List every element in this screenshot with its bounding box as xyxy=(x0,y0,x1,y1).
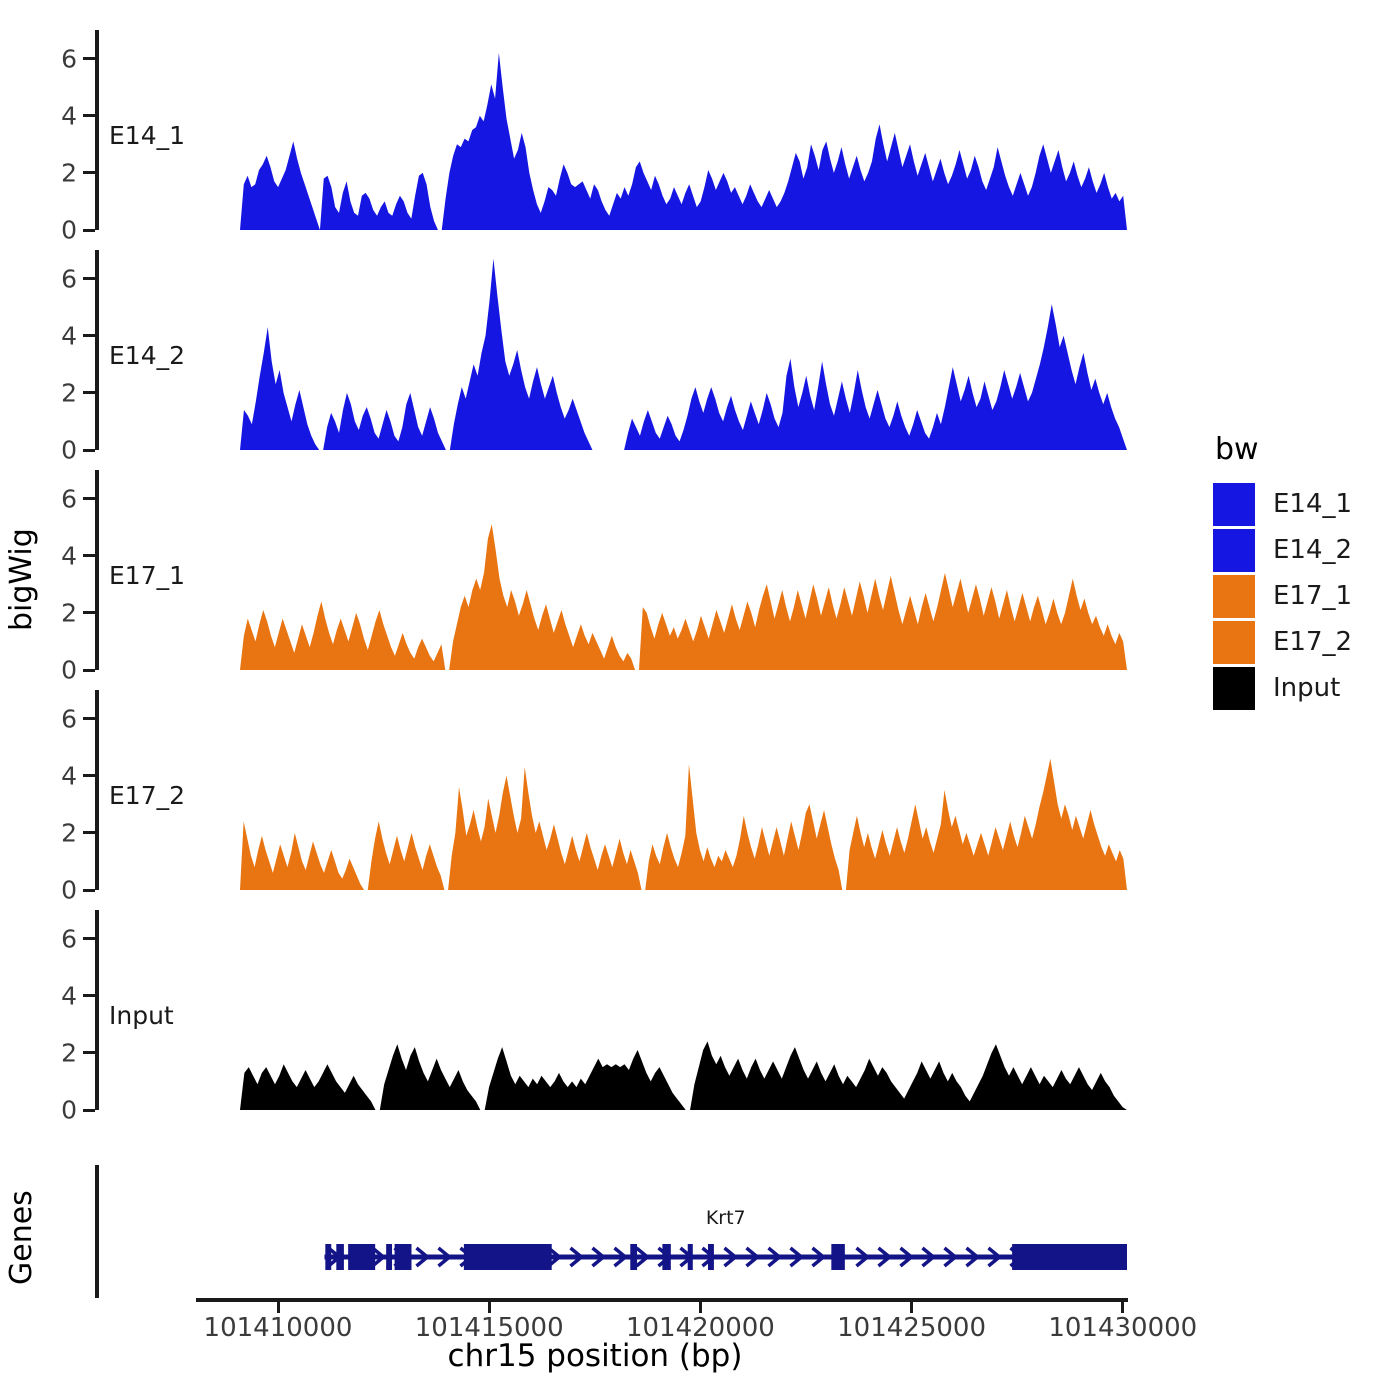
x-axis-title: chr15 position (bp) xyxy=(0,1338,1190,1374)
signal-panel-e17_2: 0246E17_2 xyxy=(95,690,1135,890)
signal-panel-e17_1: 0246E17_1 xyxy=(95,470,1135,670)
gene-exon xyxy=(708,1244,714,1270)
y-tick-label: 6 xyxy=(61,264,77,293)
x-tick xyxy=(699,1302,702,1313)
legend-item-e17_1[interactable]: E17_1 xyxy=(1213,573,1352,619)
signal-area xyxy=(240,259,592,450)
y-tick: 4 xyxy=(83,774,95,777)
y-tick: 4 xyxy=(83,114,95,117)
signal-area xyxy=(240,759,1127,890)
y-tick: 6 xyxy=(83,277,95,280)
legend-item-e17_2[interactable]: E17_2 xyxy=(1213,619,1352,665)
y-tick-label: 6 xyxy=(61,44,77,73)
legend-items: E14_1E14_2E17_1E17_2Input xyxy=(1213,481,1352,711)
y-tick: 2 xyxy=(83,611,95,614)
y-tick: 2 xyxy=(83,391,95,394)
y-tick: 2 xyxy=(83,831,95,834)
gene-exon xyxy=(348,1244,375,1270)
legend-item-e14_1[interactable]: E14_1 xyxy=(1213,481,1352,527)
y-tick-label: 4 xyxy=(61,541,77,570)
y-tick: 4 xyxy=(83,994,95,997)
gene-exon xyxy=(1012,1244,1127,1270)
y-axis-title-bigwig-wrap: bigWig xyxy=(4,470,56,690)
y-tick-label: 0 xyxy=(61,876,77,905)
signal-track-e17_1 xyxy=(99,470,1135,670)
y-tick-label: 6 xyxy=(61,924,77,953)
y-tick: 2 xyxy=(83,171,95,174)
genome-browser-figure: bigWig Genes 0246E14_10246E14_20246E17_1… xyxy=(0,0,1400,1400)
legend-swatch xyxy=(1213,667,1255,710)
y-tick-label: 0 xyxy=(61,216,77,245)
signal-area xyxy=(240,1041,1127,1110)
signal-track-input xyxy=(99,910,1135,1110)
gene-name-label: Krt7 xyxy=(666,1207,786,1229)
plot-area-e14_1 xyxy=(99,30,1135,230)
legend-label: E14_2 xyxy=(1273,535,1352,565)
y-tick-label: 0 xyxy=(61,1096,77,1125)
legend-swatch xyxy=(1213,529,1255,572)
signal-panel-e14_2: 0246E14_2 xyxy=(95,250,1135,450)
gene-exon xyxy=(662,1244,670,1270)
legend-label: E17_2 xyxy=(1273,627,1352,657)
y-tick: 6 xyxy=(83,57,95,60)
signal-track-e17_2 xyxy=(99,690,1135,890)
y-tick: 0 xyxy=(83,889,95,892)
plot-area-input xyxy=(99,910,1135,1110)
y-tick: 0 xyxy=(83,1109,95,1112)
y-tick-label: 0 xyxy=(61,656,77,685)
legend-item-e14_2[interactable]: E14_2 xyxy=(1213,527,1352,573)
gene-exon xyxy=(630,1244,637,1270)
x-tick xyxy=(277,1302,280,1313)
y-axis-title-bigwig: bigWig xyxy=(4,470,39,690)
y-tick: 0 xyxy=(83,449,95,452)
y-tick-label: 0 xyxy=(61,436,77,465)
y-tick-label: 4 xyxy=(61,761,77,790)
y-tick-label: 2 xyxy=(61,378,77,407)
gene-model-svg xyxy=(99,1165,1135,1298)
y-tick-label: 6 xyxy=(61,484,77,513)
signal-track-e14_2 xyxy=(99,250,1135,450)
genes-plot-area xyxy=(99,1165,1135,1298)
signal-panel-input: 0246Input xyxy=(95,910,1135,1110)
plot-area-e17_2 xyxy=(99,690,1135,890)
y-tick-label: 4 xyxy=(61,981,77,1010)
legend-swatch xyxy=(1213,483,1255,526)
gene-exon xyxy=(325,1244,331,1270)
legend-item-input[interactable]: Input xyxy=(1213,665,1352,711)
y-tick: 0 xyxy=(83,669,95,672)
legend-title: bw xyxy=(1215,432,1352,467)
legend-swatch xyxy=(1213,575,1255,618)
y-tick: 4 xyxy=(83,334,95,337)
legend-label: Input xyxy=(1273,673,1340,703)
legend-swatch xyxy=(1213,621,1255,664)
y-tick: 0 xyxy=(83,229,95,232)
x-axis-line xyxy=(196,1298,1128,1302)
y-tick-label: 2 xyxy=(61,818,77,847)
gene-exon xyxy=(688,1244,693,1270)
x-tick xyxy=(488,1302,491,1313)
signal-area xyxy=(240,524,1127,670)
signal-track-e14_1 xyxy=(99,30,1135,230)
y-tick: 4 xyxy=(83,554,95,557)
y-axis-title-genes: Genes xyxy=(4,1175,39,1300)
plot-area-e14_2 xyxy=(99,250,1135,450)
x-tick xyxy=(1121,1302,1124,1313)
y-tick-label: 6 xyxy=(61,704,77,733)
signal-area xyxy=(240,53,1127,230)
plot-area-e17_1 xyxy=(99,470,1135,670)
legend-label: E17_1 xyxy=(1273,581,1352,611)
gene-exon xyxy=(395,1244,412,1270)
legend-label: E14_1 xyxy=(1273,489,1352,519)
y-tick-label: 4 xyxy=(61,101,77,130)
gene-exon xyxy=(386,1244,392,1270)
y-tick: 2 xyxy=(83,1051,95,1054)
signal-panel-e14_1: 0246E14_1 xyxy=(95,30,1135,230)
y-tick-label: 4 xyxy=(61,321,77,350)
gene-exon xyxy=(336,1244,344,1270)
x-tick xyxy=(910,1302,913,1313)
y-axis-title-genes-wrap: Genes xyxy=(4,1175,56,1300)
gene-exon xyxy=(831,1244,845,1270)
y-tick: 6 xyxy=(83,937,95,940)
y-tick-label: 2 xyxy=(61,1038,77,1067)
y-tick-label: 2 xyxy=(61,598,77,627)
y-tick: 6 xyxy=(83,717,95,720)
y-tick-label: 2 xyxy=(61,158,77,187)
genes-panel: Krt7 xyxy=(95,1165,1135,1298)
y-tick: 6 xyxy=(83,497,95,500)
signal-area xyxy=(624,304,1127,450)
gene-exon xyxy=(464,1244,552,1270)
legend: bw E14_1E14_2E17_1E17_2Input xyxy=(1213,432,1352,711)
